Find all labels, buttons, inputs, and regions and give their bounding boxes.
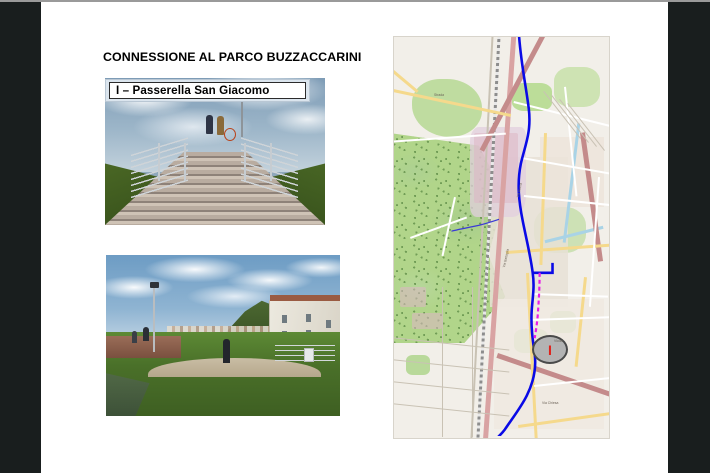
route-line-alt (535, 273, 540, 338)
photo2-pedestrian (132, 331, 137, 343)
photo2-waste-bin (304, 348, 314, 362)
photo2-pedestrian (143, 327, 149, 341)
photo1-railing-post (184, 143, 186, 181)
map-percorso[interactable]: I Via Roma Via Battaglia Vicolo Via Chie… (393, 36, 610, 439)
page-title: CONNESSIONE AL PARCO BUZZACCARINI (103, 50, 361, 64)
photo1-railing-post (244, 143, 246, 181)
photo2-window (326, 320, 331, 328)
photo1-railing-post (158, 143, 160, 181)
presentation-viewer: CONNESSIONE AL PARCO BUZZACCARINI I – Pa… (0, 0, 710, 473)
route-line-branch (533, 263, 553, 273)
photo1-railing-post (270, 143, 272, 181)
map-street-label: Via Chiesa (542, 401, 558, 405)
route-line-main (489, 37, 535, 436)
slide-page: CONNESSIONE AL PARCO BUZZACCARINI I – Pa… (41, 2, 668, 473)
photo2-window (306, 314, 311, 322)
photo1-caption-label: I – Passerella San Giacomo (116, 84, 269, 97)
photo1-pedestrian (206, 115, 213, 134)
viewer-right-letterbox (668, 2, 710, 473)
map-marker-label: I (548, 343, 552, 357)
photo2-window (282, 315, 287, 323)
map-canvas: I Via Roma Via Battaglia Vicolo Via Chie… (394, 37, 609, 438)
map-street-label: Vicolo (554, 339, 563, 343)
photo-parco-buzzaccarini (106, 255, 340, 416)
map-street-label: Strada (434, 93, 444, 97)
route-line-minor (451, 219, 499, 231)
photo1-bicycle (224, 128, 236, 141)
photo2-lamp-post (153, 287, 156, 351)
map-route-overlay (394, 37, 609, 436)
photo1-caption-box: I – Passerella San Giacomo (109, 82, 306, 99)
viewer-left-letterbox (0, 2, 41, 473)
photo2-pedestrian (223, 339, 230, 363)
